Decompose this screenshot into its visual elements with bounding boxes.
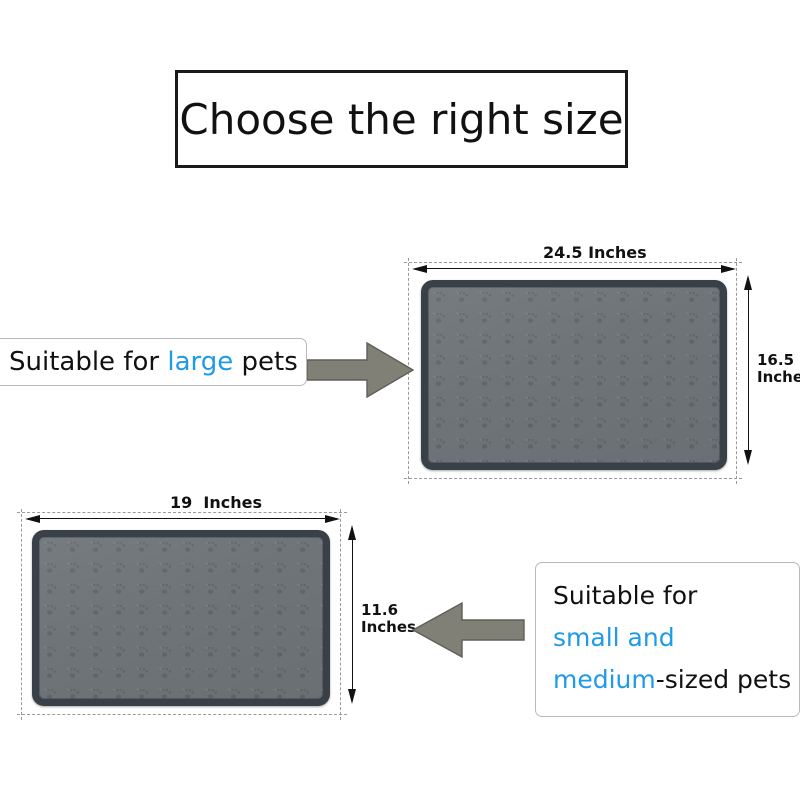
pointer-arrow-left-icon <box>410 598 526 662</box>
dim-value-large-width: 24.5 <box>543 243 582 262</box>
dim-line-large-height <box>748 278 749 462</box>
title-box: Choose the right size <box>175 70 628 168</box>
arrowhead-large-width-right <box>721 265 736 273</box>
size-guide-infographic: Choose the right size 24.5 Inches 16.5 I… <box>0 0 800 800</box>
dim-value-small-width: 19 <box>170 493 192 512</box>
mat-sheen <box>39 537 323 699</box>
arrowhead-large-height-top <box>744 275 752 290</box>
dim-value-small-height: 11.6 <box>361 602 416 619</box>
callout-small-line1-text: Suitable for <box>553 581 697 610</box>
arrowhead-large-height-bottom <box>744 450 752 465</box>
guide-large-bottom <box>404 478 742 479</box>
dim-unit-large-width: Inches <box>588 243 647 262</box>
callout-small-line-3: medium-sized pets <box>553 659 799 701</box>
callout-small-line3-highlight: medium <box>553 665 656 694</box>
dim-unit-small-height: Inches <box>361 619 416 636</box>
guide-small-left <box>21 509 22 720</box>
dim-unit-small-width: Inches <box>203 493 262 512</box>
dim-unit-large-height: Inches <box>757 369 800 386</box>
dim-label-small-height: 11.6 Inches <box>361 602 416 637</box>
pointer-arrow-right-icon <box>305 339 415 401</box>
guide-small-bottom <box>17 714 347 715</box>
dim-line-small-height <box>352 528 353 701</box>
dim-line-small-width <box>28 518 337 519</box>
arrowhead-small-width-left <box>25 515 40 523</box>
arrowhead-small-height-bottom <box>348 689 356 704</box>
callout-small-line-1: Suitable for <box>553 575 799 617</box>
callout-large-pets: Suitable for large pets <box>0 338 307 386</box>
callout-large-prefix: Suitable for <box>9 347 167 377</box>
guide-large-right <box>736 258 737 484</box>
dim-label-large-width: 24.5 Inches <box>543 244 647 262</box>
arrowhead-small-width-right <box>325 515 340 523</box>
product-mat-large <box>421 280 727 470</box>
mat-sheen <box>428 287 720 463</box>
callout-small-line-2: small and <box>553 617 799 659</box>
dim-label-large-height: 16.5 Inches <box>757 352 800 387</box>
page-title: Choose the right size <box>179 95 623 144</box>
dim-line-large-width <box>415 268 733 269</box>
callout-small-line2-highlight: small and <box>553 623 675 652</box>
arrowhead-large-width-left <box>412 265 427 273</box>
callout-small-medium-pets: Suitable for small and medium-sized pets <box>535 562 800 717</box>
callout-large-suffix: pets <box>233 347 298 377</box>
callout-large-highlight: large <box>167 347 233 377</box>
dim-value-large-height: 16.5 <box>757 352 800 369</box>
callout-small-line3-suffix: -sized pets <box>656 665 791 694</box>
arrowhead-small-height-top <box>348 525 356 540</box>
product-mat-small <box>32 530 330 706</box>
callout-large-text: Suitable for large pets <box>9 347 298 377</box>
dim-label-small-width: 19 Inches <box>170 494 262 512</box>
guide-small-right <box>340 509 341 720</box>
